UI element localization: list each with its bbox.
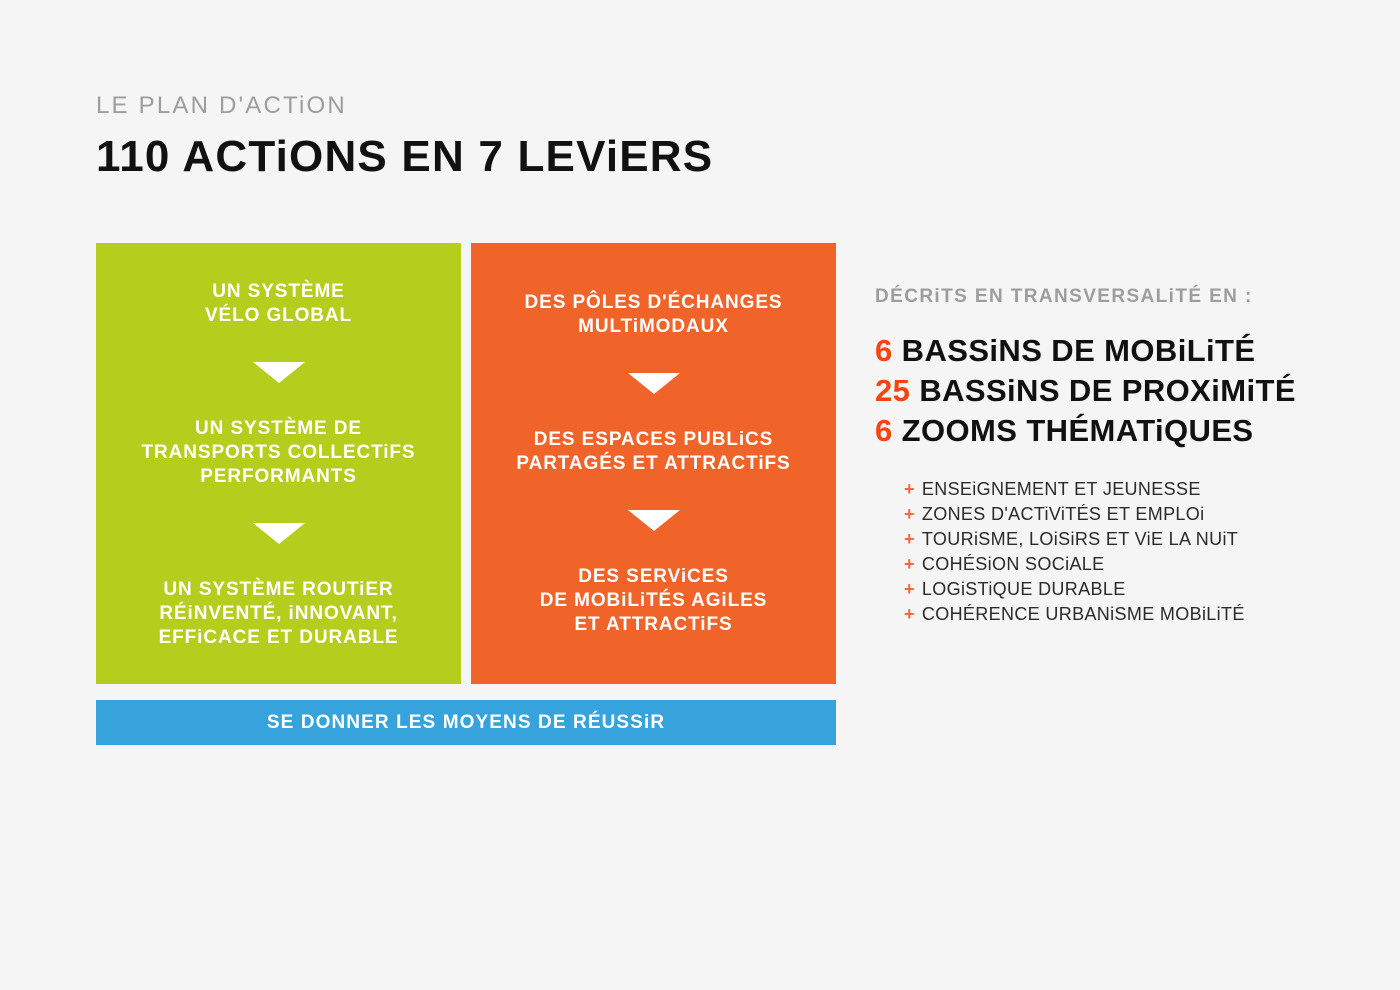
stat-label: BASSiNS DE PROXiMiTÉ [919, 373, 1296, 408]
list-item-label: COHÉRENCE URBANiSME MOBiLiTÉ [922, 604, 1245, 624]
plus-icon: + [904, 604, 915, 624]
stat-number: 6 [875, 413, 893, 448]
list-item: +ENSEiGNEMENT ET JEUNESSE [904, 477, 1345, 502]
stat-label: BASSiNS DE MOBiLiTÉ [902, 333, 1256, 368]
triangle-down-icon [253, 362, 305, 383]
transversality-column: DÉCRiTS EN TRANSVERSALiTÉ EN : 6 BASSiNS… [875, 285, 1345, 627]
panel-green-step-2: UN SYSTÈME DE TRANSPORTS COLLECTiFS PERF… [142, 417, 416, 489]
plus-icon: + [904, 529, 915, 549]
list-item-label: TOURiSME, LOiSiRS ET ViE LA NUiT [922, 529, 1238, 549]
list-item-label: LOGiSTiQUE DURABLE [922, 579, 1126, 599]
page-title: 110 ACTiONS EN 7 LEViERS [96, 132, 896, 182]
stat-number: 6 [875, 333, 893, 368]
list-item: +ZONES D'ACTiViTÉS ET EMPLOi [904, 502, 1345, 527]
blue-banner-label: SE DONNER LES MOYENS DE RÉUSSiR [267, 712, 665, 734]
stat-row: 6 BASSiNS DE MOBiLiTÉ [875, 331, 1345, 371]
themes-list: +ENSEiGNEMENT ET JEUNESSE +ZONES D'ACTiV… [904, 477, 1345, 627]
triangle-down-icon [628, 373, 680, 394]
panel-orange-step-1: DES PÔLES D'ÉCHANGES MULTiMODAUX [525, 291, 783, 339]
list-item-label: ENSEiGNEMENT ET JEUNESSE [922, 479, 1201, 499]
stat-row: 6 ZOOMS THÉMATiQUES [875, 411, 1345, 451]
plus-icon: + [904, 504, 915, 524]
triangle-down-icon [253, 523, 305, 544]
panel-green-step-3: UN SYSTÈME ROUTiER RÉiNVENTÉ, iNNOVANT, … [159, 578, 399, 650]
list-item-label: ZONES D'ACTiViTÉS ET EMPLOi [922, 504, 1205, 524]
stat-row: 25 BASSiNS DE PROXiMiTÉ [875, 371, 1345, 411]
panel-orange-step-2: DES ESPACES PUBLiCS PARTAGÉS ET ATTRACTi… [516, 428, 790, 476]
transversality-kicker: DÉCRiTS EN TRANSVERSALiTÉ EN : [875, 285, 1345, 309]
blue-banner: SE DONNER LES MOYENS DE RÉUSSiR [96, 700, 836, 745]
page-header: LE PLAN D'ACTiON 110 ACTiONS EN 7 LEViER… [96, 92, 896, 182]
page-kicker: LE PLAN D'ACTiON [96, 92, 896, 120]
levers-panel-group: UN SYSTÈME VÉLO GLOBAL UN SYSTÈME DE TRA… [96, 243, 836, 684]
list-item: +TOURiSME, LOiSiRS ET ViE LA NUiT [904, 527, 1345, 552]
plus-icon: + [904, 479, 915, 499]
list-item: +COHÉRENCE URBANiSME MOBiLiTÉ [904, 602, 1345, 627]
list-item: +LOGiSTiQUE DURABLE [904, 577, 1345, 602]
plus-icon: + [904, 554, 915, 574]
list-item: +COHÉSiON SOCiALE [904, 552, 1345, 577]
stat-label: ZOOMS THÉMATiQUES [902, 413, 1254, 448]
panel-green-step-1: UN SYSTÈME VÉLO GLOBAL [205, 280, 352, 328]
slide-canvas: LE PLAN D'ACTiON 110 ACTiONS EN 7 LEViER… [0, 0, 1400, 990]
triangle-down-icon [628, 510, 680, 531]
panel-orange-step-3: DES SERViCES DE MOBiLiTÉS AGiLES ET ATTR… [540, 565, 768, 637]
panel-green-mobility-systems: UN SYSTÈME VÉLO GLOBAL UN SYSTÈME DE TRA… [96, 243, 461, 684]
stats-list: 6 BASSiNS DE MOBiLiTÉ 25 BASSiNS DE PROX… [875, 331, 1345, 451]
stat-number: 25 [875, 373, 910, 408]
list-item-label: COHÉSiON SOCiALE [922, 554, 1105, 574]
plus-icon: + [904, 579, 915, 599]
panel-orange-public-space-services: DES PÔLES D'ÉCHANGES MULTiMODAUX DES ESP… [471, 243, 836, 684]
